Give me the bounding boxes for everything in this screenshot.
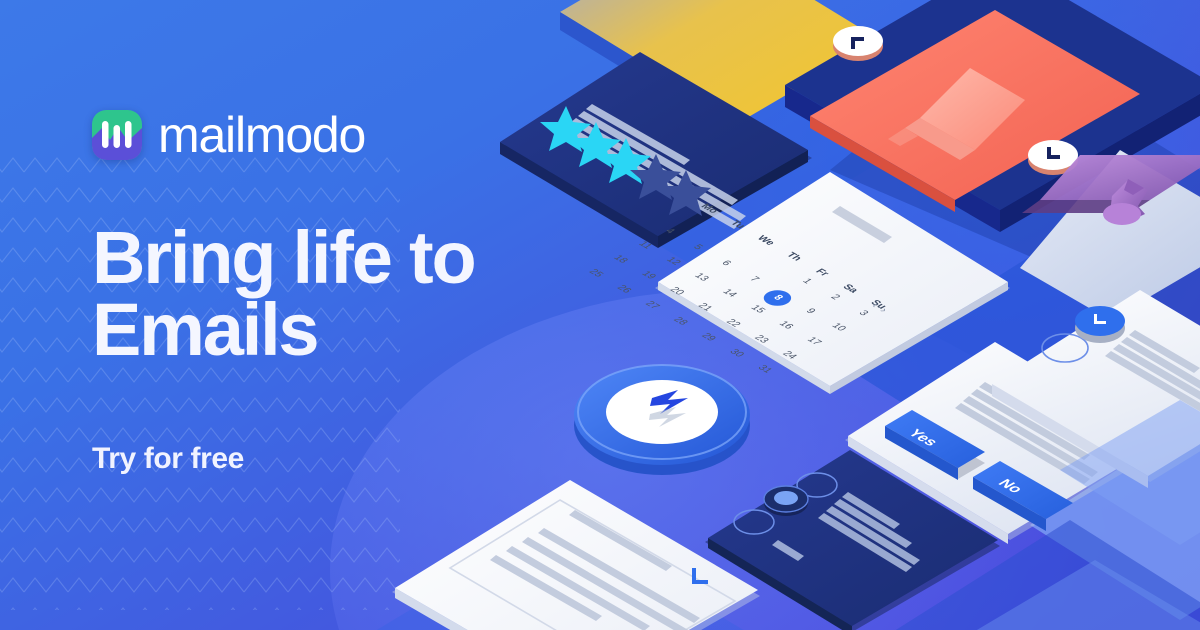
try-for-free-cta[interactable]: Try for free bbox=[92, 442, 244, 476]
clock-icon bbox=[1075, 306, 1125, 343]
top-left-crop-handle[interactable] bbox=[833, 26, 883, 61]
hero-copy: mailmodo Bring life to Emails Try for fr… bbox=[92, 110, 562, 476]
radio-option-2-selected[interactable] bbox=[764, 486, 808, 516]
page-title: Bring life to Emails bbox=[92, 222, 562, 366]
document-card[interactable] bbox=[392, 480, 760, 630]
brand-name: mailmodo bbox=[158, 110, 365, 160]
mailmodo-logo-icon bbox=[92, 110, 142, 160]
hero-banner: Mo Tu We Th Fr Sa Su 1 2 3 4 5 6 7 8 9 1… bbox=[0, 0, 1200, 630]
brand-lockup[interactable]: mailmodo bbox=[92, 110, 562, 160]
